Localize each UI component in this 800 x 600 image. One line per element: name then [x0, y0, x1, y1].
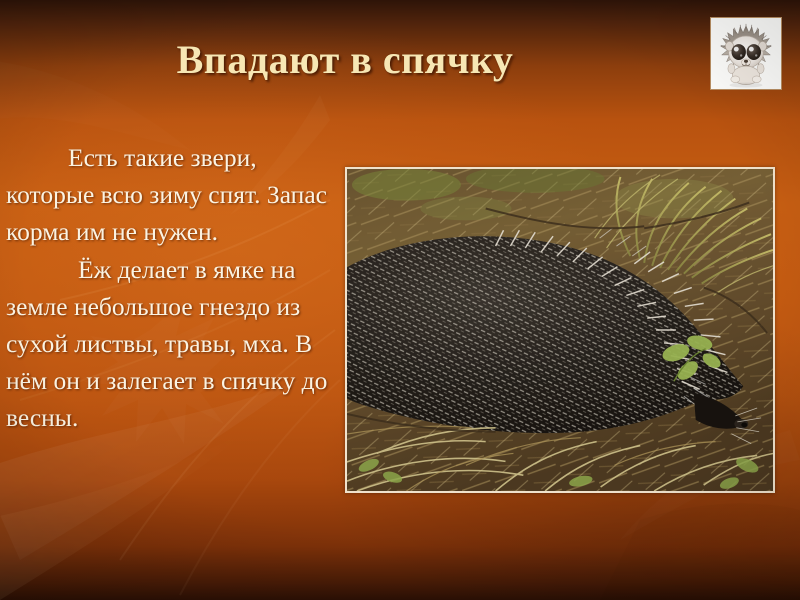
slide-title: Впадают в спячку — [0, 36, 690, 83]
slide-canvas: Впадают в спячку — [0, 0, 800, 600]
hedgehog-logo — [710, 17, 782, 90]
paragraph-2: Ёж делает в ямке на земле небольшое гнез… — [6, 251, 336, 436]
body-text: Есть такие звери, которые всю зиму спят.… — [6, 139, 336, 436]
paragraph-1: Есть такие звери, которые всю зиму спят.… — [6, 139, 336, 250]
hedgehog-icon — [711, 18, 781, 89]
hedgehog-photo — [345, 167, 775, 493]
